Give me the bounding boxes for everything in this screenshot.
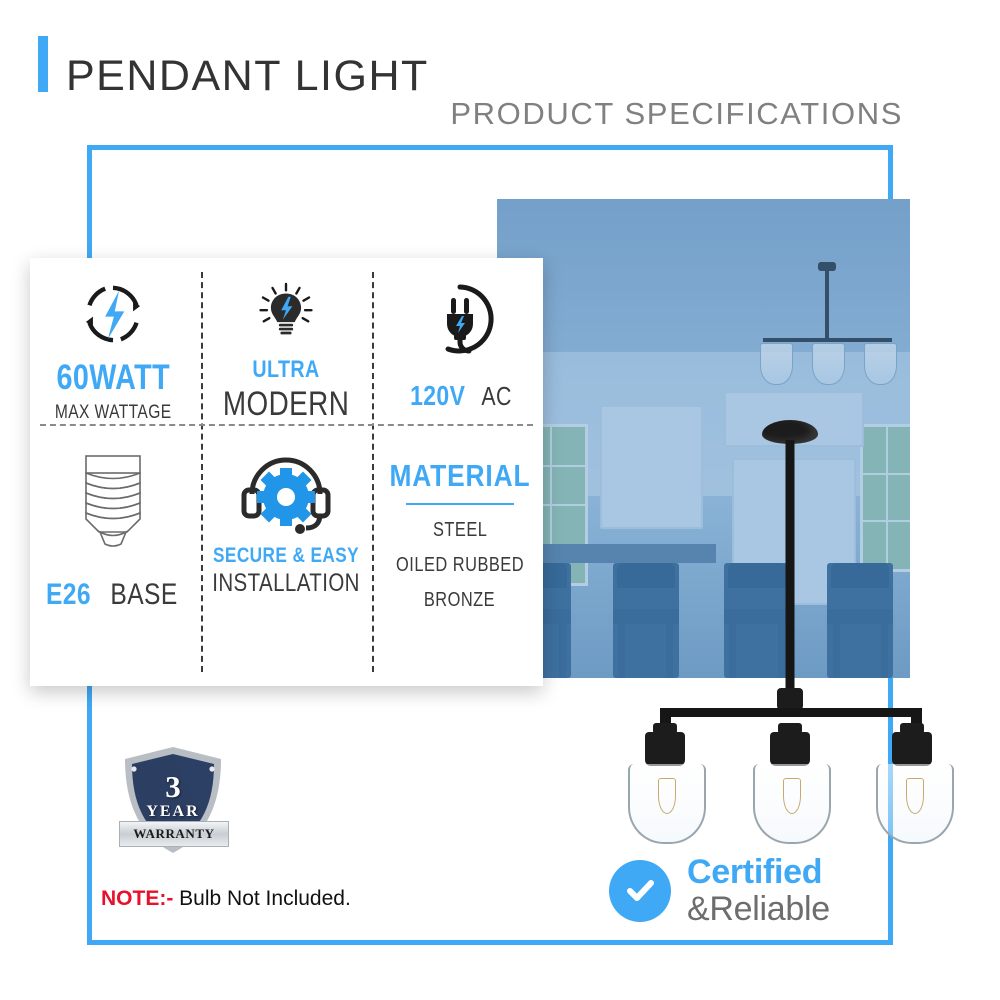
spec-base-label: BASE (111, 578, 178, 612)
note-text: Bulb Not Included. (179, 887, 351, 910)
spec-installation-primary: SECURE & EASY (213, 544, 359, 568)
pendant-socket (770, 732, 810, 766)
pendant-center-joint (777, 688, 803, 710)
material-line: STEEL (433, 519, 487, 542)
e26-screw-base-icon (67, 450, 159, 562)
product-specifications-heading: PRODUCT SPECIFICATIONS (450, 96, 903, 132)
material-title: MATERIAL (389, 458, 530, 494)
power-bolt-cycle-icon (74, 280, 152, 348)
spec-voltage-row: 120V AC (404, 380, 516, 412)
spec-base-value: E26 (46, 578, 91, 612)
spec-cell-material: MATERIAL STEEL OILED RUBBED BRONZE (377, 424, 543, 686)
certified-text: Certified &Reliable (687, 855, 830, 926)
material-underline (406, 503, 514, 505)
material-line: BRONZE (424, 589, 495, 612)
spec-base-row: E26 BASE (41, 578, 185, 612)
headset-gear-icon (236, 450, 336, 534)
warranty-badge: 3 YEAR WARRANTY (121, 745, 225, 855)
certified-line-1: Certified (687, 855, 830, 889)
lightbulb-bolt-icon (247, 280, 325, 342)
certified-line-2: &Reliable (687, 892, 830, 926)
note-line: NOTE:- Bulb Not Included. (101, 887, 351, 911)
title-accent-bar (38, 36, 48, 92)
pendant-glass-shade (628, 764, 706, 844)
material-line: OILED RUBBED (396, 554, 524, 577)
warranty-ribbon: WARRANTY (119, 821, 229, 847)
spec-installation-secondary: INSTALLATION (213, 569, 361, 598)
certified-reliable-badge: Certified &Reliable (609, 855, 830, 926)
spec-cell-wattage: 60WATT MAX WATTAGE (30, 258, 196, 424)
spec-voltage-unit: AC (482, 381, 512, 412)
pendant-filament (906, 778, 924, 814)
pendant-socket (645, 732, 685, 766)
spec-cell-base: E26 BASE (30, 424, 196, 686)
check-circle-icon (609, 860, 671, 922)
pendant-light-product (640, 420, 940, 810)
note-label: NOTE:- (101, 887, 173, 910)
grid-divider-vertical (372, 272, 374, 672)
spec-cell-voltage: 120V AC (377, 258, 543, 424)
pendant-glass-shade (876, 764, 954, 844)
pendant-glass-shade (753, 764, 831, 844)
spec-wattage-value: 60WATT (56, 358, 170, 398)
specifications-grid: 60WATT MAX WATTAGE (30, 258, 543, 686)
pendant-filament (658, 778, 676, 814)
specifications-card: 60WATT MAX WATTAGE (30, 258, 543, 686)
spec-cell-installation: SECURE & EASY INSTALLATION (196, 424, 376, 686)
plug-circle-icon (421, 280, 499, 358)
pendant-filament (783, 778, 801, 814)
warranty-period: YEAR (121, 803, 225, 821)
page-title: PENDANT LIGHT (66, 52, 429, 101)
pendant-crossbar (660, 708, 922, 717)
grid-divider-horizontal (40, 424, 533, 426)
spec-style-secondary: MODERN (223, 385, 349, 424)
warranty-number: 3 (121, 769, 225, 805)
spec-voltage-value: 120V (410, 380, 465, 412)
spec-wattage-label: MAX WATTAGE (55, 402, 172, 424)
grid-divider-vertical (201, 272, 203, 672)
infographic-canvas: PENDANT LIGHT PRODUCT SPECIFICATIONS (0, 0, 1000, 1000)
check-icon (622, 873, 658, 909)
pendant-socket (892, 732, 932, 766)
pendant-downrod (786, 440, 795, 705)
spec-style-primary: ULTRA (253, 356, 320, 384)
spec-cell-style: ULTRA MODERN (196, 258, 376, 424)
warranty-ribbon-text: WARRANTY (133, 826, 214, 842)
